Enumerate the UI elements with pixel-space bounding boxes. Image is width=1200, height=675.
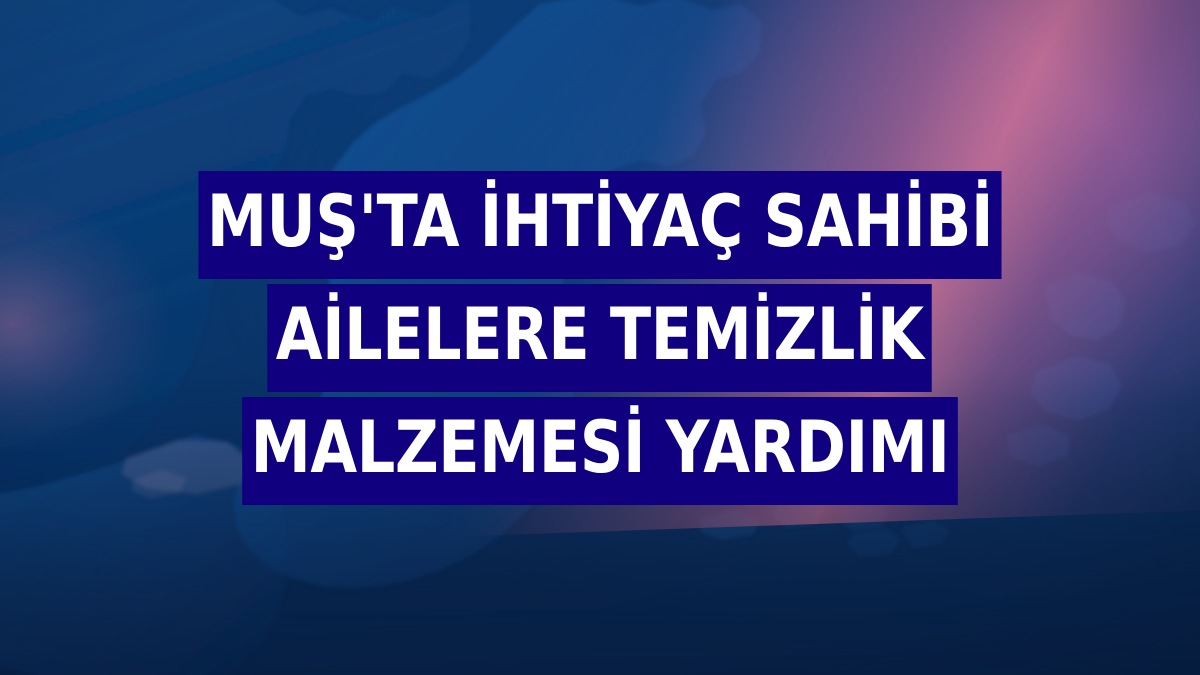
headline: MUŞ'TA İHTİYAÇ SAHİBİ AİLELERE TEMİZLİK … [0, 171, 1200, 505]
headline-line-1-text: MUŞ'TA İHTİYAÇ SAHİBİ [198, 171, 1001, 279]
headline-card: MUŞ'TA İHTİYAÇ SAHİBİ AİLELERE TEMİZLİK … [0, 0, 1200, 675]
headline-line: MALZEMESİ YARDIMI [0, 397, 1200, 505]
headline-line: AİLELERE TEMİZLİK [0, 284, 1200, 392]
headline-line-3-text: MALZEMESİ YARDIMI [242, 397, 958, 505]
headline-line-2-text: AİLELERE TEMİZLİK [268, 284, 933, 392]
headline-line: MUŞ'TA İHTİYAÇ SAHİBİ [0, 171, 1200, 279]
